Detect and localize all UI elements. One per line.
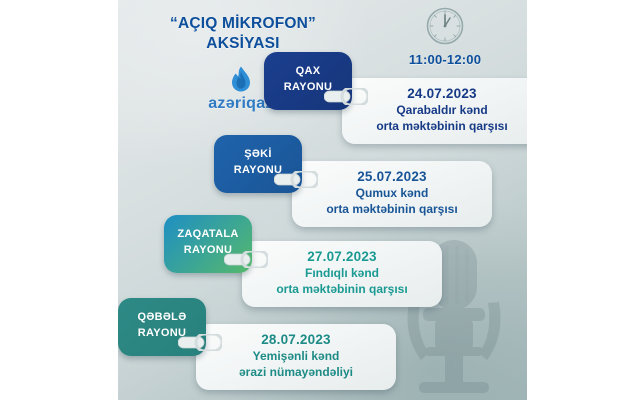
district-tag[interactable]: ZAQATALA RAYONU [164,215,252,273]
event-location-line-2: ərazi nümayəndəliyi [206,365,386,381]
clock-icon [425,6,465,46]
event-location-line-1: Fındıqlı kənd [252,266,432,282]
district-tag[interactable]: QAX RAYONU [264,52,352,110]
event-date: 27.07.2023 [252,249,432,264]
event-date: 24.07.2023 [352,86,527,101]
district-suffix: RAYONU [214,163,302,179]
schedule-card[interactable]: 28.07.2023 Yemişənli kənd ərazi nümayənd… [196,324,396,390]
district-tag-label: QƏBƏLƏ RAYONU [118,310,206,341]
event-location-line-1: Qumux kənd [302,186,482,202]
district-name: ŞƏKİ [244,148,272,160]
district-tag-label: ŞƏKİ RAYONU [214,147,302,178]
event-location-line-2: orta məktəbinin qarşısı [302,202,482,218]
district-tag-label: ZAQATALA RAYONU [164,227,252,258]
district-tag[interactable]: QƏBƏLƏ RAYONU [118,298,206,356]
event-location-line-1: Qarabaldır kənd [352,103,527,119]
time-block: 11:00-12:00 [390,6,500,67]
poster-canvas: “AÇIQ MİKROFON” AKSİYASI azəriqaz [118,0,527,400]
event-date: 25.07.2023 [302,169,482,184]
district-suffix: RAYONU [164,243,252,259]
district-name: QAX [296,65,321,77]
poster-frame: “AÇIQ MİKROFON” AKSİYASI azəriqaz [0,0,637,400]
district-name: QƏBƏLƏ [138,311,187,323]
time-range: 11:00-12:00 [390,52,500,67]
event-location-line-2: orta məktəbinin qarşısı [252,282,432,298]
event-location-line-1: Yemişənli kənd [206,349,386,365]
district-tag-label: QAX RAYONU [264,64,352,95]
flame-icon [230,66,252,92]
schedule-card[interactable]: 24.07.2023 Qarabaldır kənd orta məktəbin… [342,78,527,144]
page-title: “AÇIQ MİKROFON” AKSİYASI [118,14,368,53]
schedule-card[interactable]: 27.07.2023 Fındıqlı kənd orta məktəbinin… [242,241,442,307]
headline-line-1: “AÇIQ MİKROFON” [170,15,316,32]
district-name: ZAQATALA [177,228,238,240]
event-location-line-2: orta məktəbinin qarşısı [352,119,527,135]
district-suffix: RAYONU [264,80,352,96]
headline-line-2: AKSİYASI [118,34,368,54]
district-tag[interactable]: ŞƏKİ RAYONU [214,135,302,193]
event-date: 28.07.2023 [206,332,386,347]
schedule-card[interactable]: 25.07.2023 Qumux kənd orta məktəbinin qa… [292,161,492,227]
district-suffix: RAYONU [118,326,206,342]
